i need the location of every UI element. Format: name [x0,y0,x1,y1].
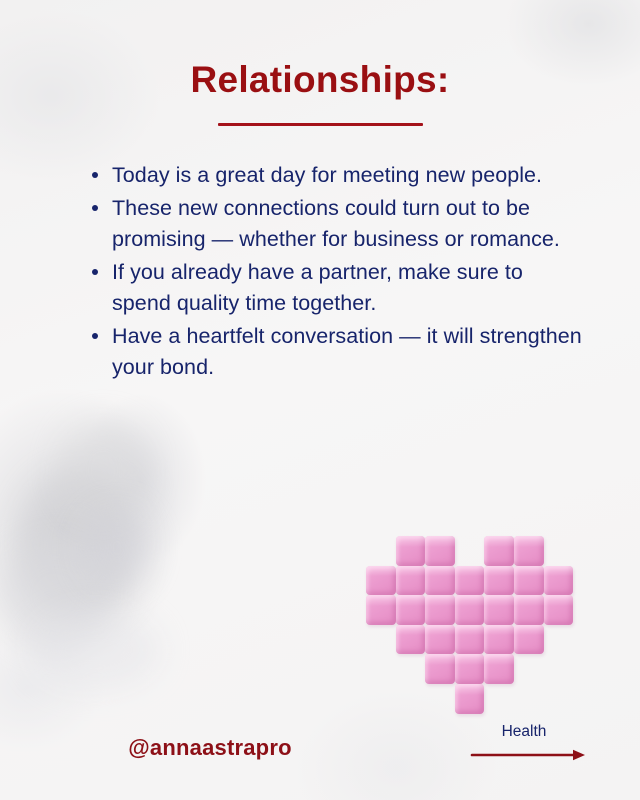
heart-cube [455,654,485,684]
background-smudge [58,420,148,520]
heart-cube [455,566,485,596]
background-smudge [82,508,152,588]
poster-canvas: Relationships: Today is a great day for … [0,0,640,800]
heart-cube [514,566,544,596]
heart-cube [544,566,574,596]
heart-cube [484,566,514,596]
arrow-right-icon [470,748,600,767]
page-title: Relationships: [0,60,640,101]
next-section-label: Health [474,724,574,740]
background-smudge [0,540,110,650]
heart-cube [455,625,485,655]
background-smudge [18,470,138,620]
background-smudge [30,610,160,690]
heart-cube [455,595,485,625]
heart-cube [366,595,396,625]
bullet-text: Today is a great day for meeting new peo… [112,163,542,187]
bullet-item: Have a heartfelt conversation — it will … [84,321,584,383]
heart-cube [366,566,396,596]
bullet-dot-icon [92,333,98,339]
bullet-item: These new connections could turn out to … [84,193,584,255]
heart-cube [425,566,455,596]
heart-cube [484,595,514,625]
heart-cube [455,684,485,714]
heart-cube [425,625,455,655]
heart-cube [396,625,426,655]
pixel-heart-graphic [366,536,574,726]
title-block: Relationships: [0,60,640,126]
title-underline-rule [218,123,423,126]
heart-cube [514,595,544,625]
heart-cube [396,595,426,625]
heart-cube [514,536,544,566]
bullet-dot-icon [92,269,98,275]
heart-cube [484,654,514,684]
bullet-text: These new connections could turn out to … [112,196,560,251]
bullet-list: Today is a great day for meeting new peo… [84,160,584,385]
heart-cube [396,566,426,596]
bullet-item: Today is a great day for meeting new peo… [84,160,584,191]
bullet-dot-icon [92,205,98,211]
next-section-pointer: Health [470,724,600,767]
heart-cube [484,625,514,655]
heart-cube [514,625,544,655]
account-handle: @annaastrapro [0,735,420,761]
bullet-item: If you already have a partner, make sure… [84,257,584,319]
heart-cube [425,654,455,684]
bullet-text: If you already have a partner, make sure… [112,260,523,315]
heart-cube [484,536,514,566]
heart-cube [544,595,574,625]
bullet-text: Have a heartfelt conversation — it will … [112,324,582,379]
heart-cube [396,536,426,566]
heart-cube [425,536,455,566]
heart-cube [425,595,455,625]
bullet-dot-icon [92,172,98,178]
